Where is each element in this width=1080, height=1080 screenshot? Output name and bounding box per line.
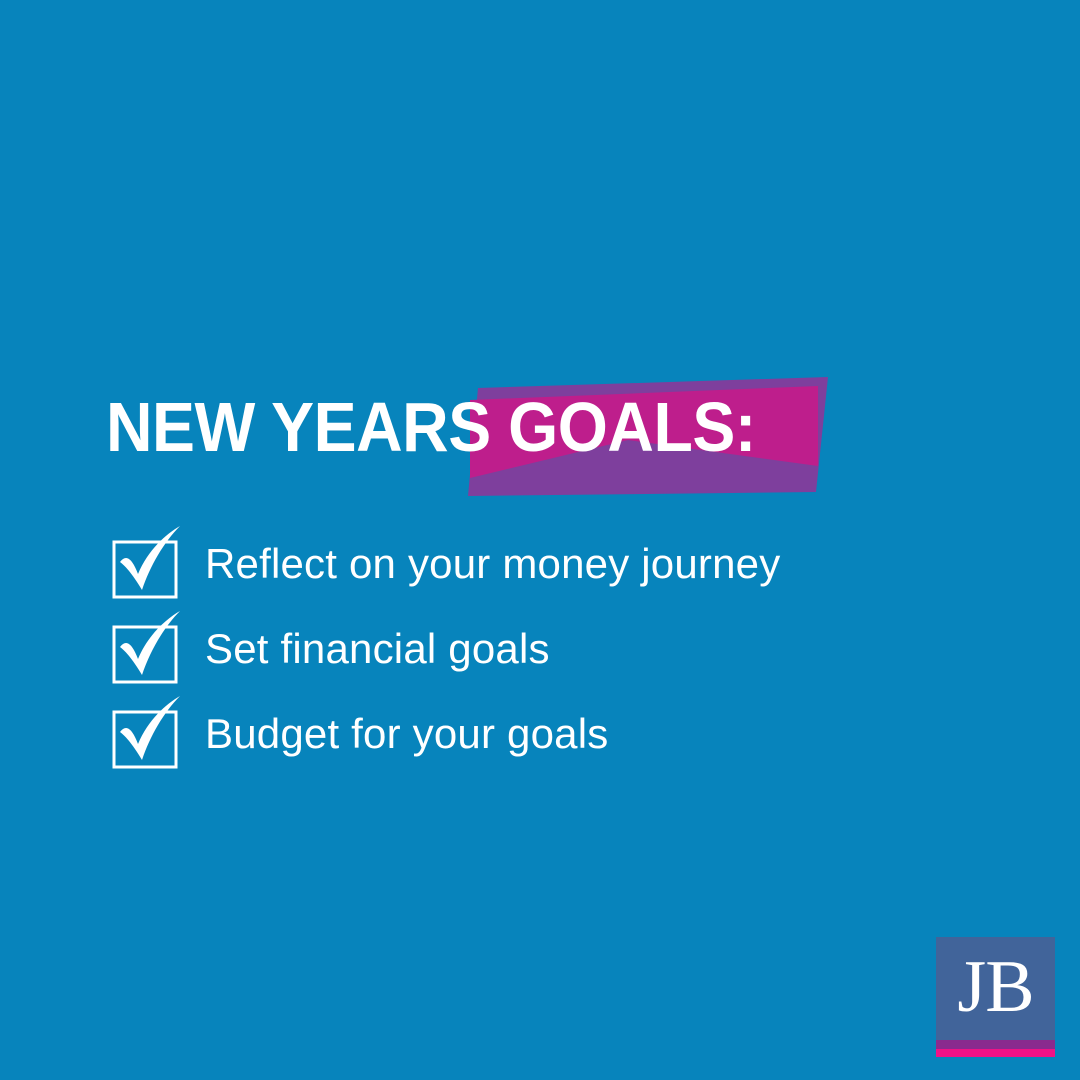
checked-checkbox-icon[interactable] <box>108 694 178 772</box>
magenta-bowtie-shape <box>470 386 818 478</box>
purple-quad-shape <box>468 377 828 496</box>
checked-checkbox-icon[interactable] <box>108 524 178 602</box>
goals-checklist: Reflect on your money journey Set financ… <box>108 524 948 779</box>
brand-logo[interactable]: JB <box>936 937 1055 1057</box>
page-title: NEW YEARS GOALS: <box>106 392 756 462</box>
logo-monogram: JB <box>936 937 1055 1040</box>
logo-accent-bar-purple <box>936 1040 1055 1049</box>
list-item[interactable]: Set financial goals <box>108 609 948 694</box>
social-graphic-canvas: NEW YEARS GOALS: Reflect on your money j… <box>0 0 1080 1080</box>
list-item-label: Reflect on your money journey <box>205 543 780 585</box>
list-item-label: Set financial goals <box>205 628 550 670</box>
list-item[interactable]: Reflect on your money journey <box>108 524 948 609</box>
list-item[interactable]: Budget for your goals <box>108 694 948 779</box>
logo-accent-bar-pink <box>936 1049 1055 1057</box>
checked-checkbox-icon[interactable] <box>108 609 178 687</box>
list-item-label: Budget for your goals <box>205 713 608 755</box>
